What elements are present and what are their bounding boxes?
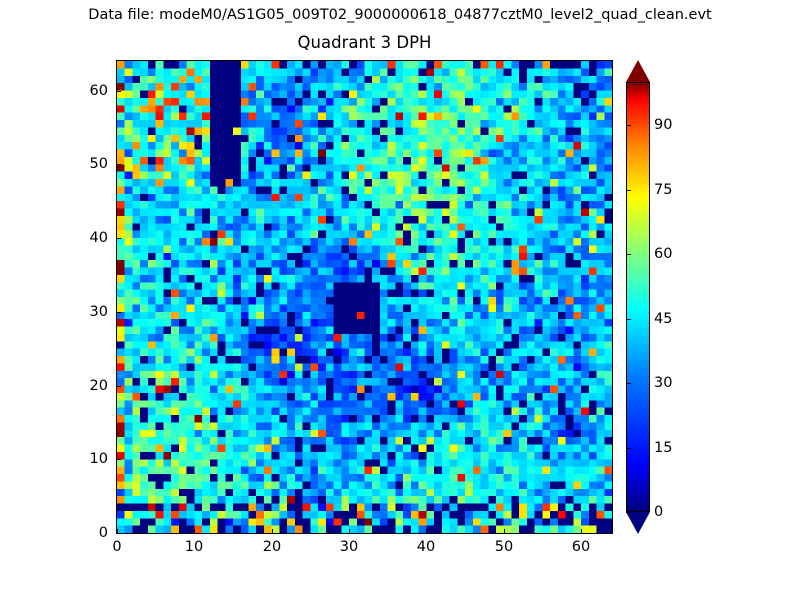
colorbar-tick-mark (626, 190, 631, 191)
colorbar-extend-max-arrow-icon (626, 60, 650, 82)
colorbar-tick-mark (626, 512, 631, 513)
colorbar[interactable] (626, 60, 650, 534)
x-tick-mark (504, 529, 505, 533)
y-tick-mark (117, 533, 121, 534)
x-tick-mark (349, 529, 350, 533)
x-tick-label: 50 (484, 539, 524, 555)
x-tick-mark (426, 529, 427, 533)
y-tick-label: 40 (64, 230, 108, 246)
colorbar-extend-min-arrow-icon (626, 512, 650, 534)
y-tick-label: 30 (64, 304, 108, 320)
y-tick-mark (117, 238, 121, 239)
x-tick-label: 20 (252, 539, 292, 555)
colorbar-tick-mark (626, 125, 631, 126)
y-tick-mark (117, 386, 121, 387)
colorbar-tick-label: 0 (654, 504, 663, 520)
figure-canvas: Data file: modeM0/AS1G05_009T02_90000006… (0, 0, 800, 600)
y-tick-mark (117, 164, 121, 165)
y-tick-label: 0 (64, 525, 108, 541)
colorbar-tick-mark (626, 448, 631, 449)
heatmap-image[interactable] (117, 61, 612, 533)
x-tick-label: 40 (406, 539, 446, 555)
colorbar-tick-label: 60 (654, 246, 672, 262)
colorbar-tick-label: 45 (654, 311, 672, 327)
y-tick-label: 50 (64, 156, 108, 172)
data-file-suptitle: Data file: modeM0/AS1G05_009T02_90000006… (0, 5, 800, 25)
x-tick-label: 60 (561, 539, 601, 555)
colorbar-tick-label: 30 (654, 375, 672, 391)
y-tick-mark (117, 312, 121, 313)
x-tick-label: 0 (97, 539, 137, 555)
heatmap-axes[interactable] (116, 60, 613, 534)
colorbar-tick-label: 90 (654, 117, 672, 133)
colorbar-tick-label: 15 (654, 440, 672, 456)
x-tick-mark (581, 529, 582, 533)
y-tick-label: 20 (64, 378, 108, 394)
colorbar-tick-label: 75 (654, 182, 672, 198)
colorbar-tick-mark (626, 383, 631, 384)
x-tick-label: 10 (174, 539, 214, 555)
plot-title: Quadrant 3 DPH (116, 32, 613, 54)
y-tick-mark (117, 91, 121, 92)
y-tick-label: 60 (64, 83, 108, 99)
colorbar-gradient-fill (627, 83, 649, 511)
x-tick-label: 30 (329, 539, 369, 555)
colorbar-tick-mark (626, 254, 631, 255)
y-tick-mark (117, 459, 121, 460)
x-tick-mark (272, 529, 273, 533)
x-tick-mark (194, 529, 195, 533)
colorbar-tick-mark (626, 319, 631, 320)
y-tick-label: 10 (64, 451, 108, 467)
